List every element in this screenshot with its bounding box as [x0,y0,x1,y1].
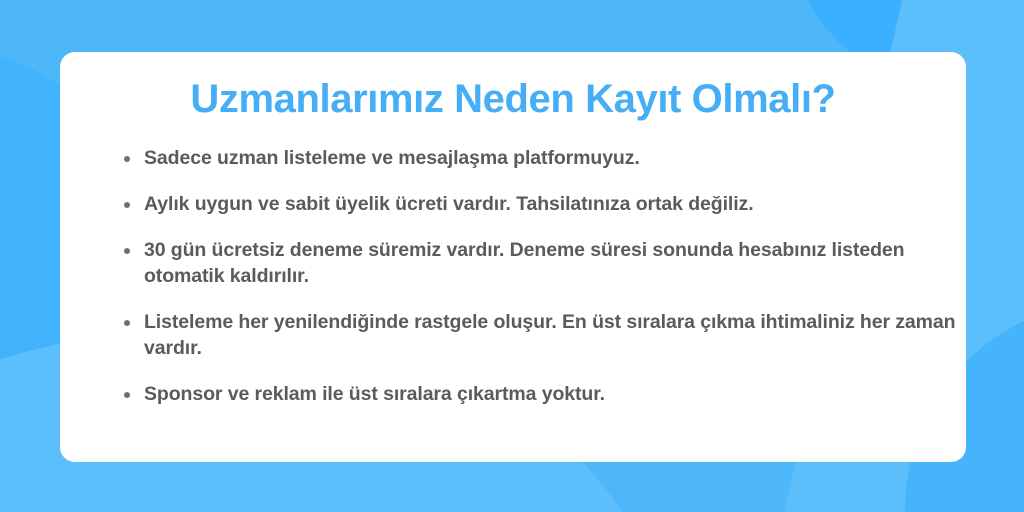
list-item: Listeleme her yenilendiğinde rastgele ol… [122,310,958,362]
list-item-label: Sponsor ve reklam ile üst sıralara çıkar… [144,382,958,408]
bullet-dot-icon [124,320,130,326]
benefits-list: Sadece uzman listeleme ve mesajlaşma pla… [122,146,958,407]
content-card: Uzmanlarımız Neden Kayıt Olmalı? Sadece … [60,52,966,462]
bullet-dot-icon [124,202,130,208]
bullet-dot-icon [124,248,130,254]
list-item: Sadece uzman listeleme ve mesajlaşma pla… [122,146,958,172]
list-item: 30 gün ücretsiz deneme süremiz vardır. D… [122,238,958,290]
list-item-label: 30 gün ücretsiz deneme süremiz vardır. D… [144,238,958,290]
bullet-dot-icon [124,156,130,162]
list-item: Sponsor ve reklam ile üst sıralara çıkar… [122,382,958,408]
list-item: Aylık uygun ve sabit üyelik ücreti vardı… [122,192,958,218]
list-item-label: Sadece uzman listeleme ve mesajlaşma pla… [144,146,958,172]
page-title: Uzmanlarımız Neden Kayıt Olmalı? [60,76,966,122]
list-item-label: Listeleme her yenilendiğinde rastgele ol… [144,310,958,362]
slide-canvas: Uzmanlarımız Neden Kayıt Olmalı? Sadece … [0,0,1024,512]
bullet-dot-icon [124,392,130,398]
list-item-label: Aylık uygun ve sabit üyelik ücreti vardı… [144,192,958,218]
